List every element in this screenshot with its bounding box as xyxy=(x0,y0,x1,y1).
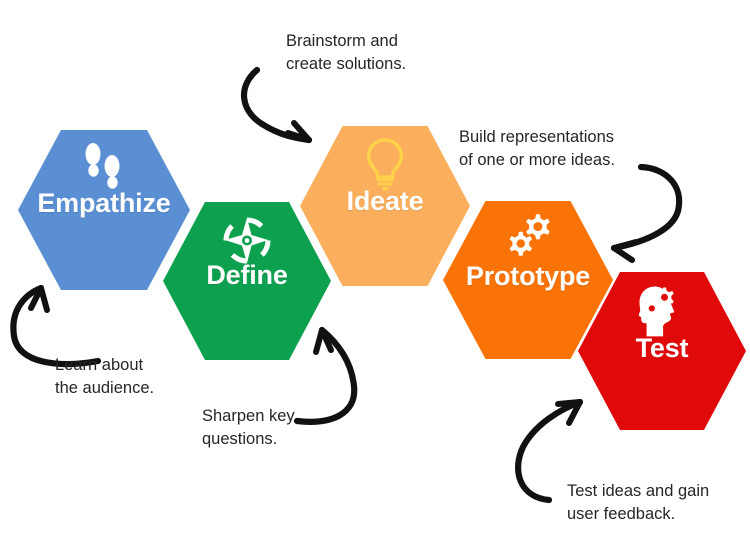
arrow-to-define xyxy=(297,330,354,422)
design-thinking-diagram: Empathize Define Ideate xyxy=(0,0,750,540)
arrow-to-empathize xyxy=(13,288,98,364)
gears-icon xyxy=(443,211,613,263)
note-prototype: Build representations of one or more ide… xyxy=(459,126,615,173)
arrow-to-prototype xyxy=(614,167,679,260)
note-test: Test ideas and gain user feedback. xyxy=(567,480,709,527)
hexagon-label-define: Define xyxy=(163,260,331,291)
arrow-to-ideate xyxy=(244,70,309,140)
head-gears-icon xyxy=(578,284,746,340)
note-define: Sharpen key questions. xyxy=(202,405,295,452)
hexagon-label-test: Test xyxy=(578,333,746,364)
note-empathize: Learn about the audience. xyxy=(55,354,154,401)
lightbulb-icon xyxy=(300,137,470,191)
footprints-icon xyxy=(18,142,190,194)
note-ideate: Brainstorm and create solutions. xyxy=(286,30,406,77)
